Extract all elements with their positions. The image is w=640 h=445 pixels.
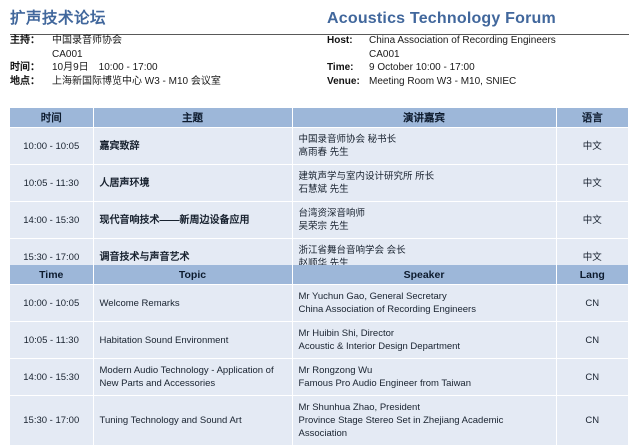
cell-language: 中文 [556,202,628,239]
event-info-english: Host: China Association of Recording Eng… [327,34,630,88]
info-label-venue-zh: 地点： [10,75,52,89]
speaker-affiliation: 建筑声学与室内设计研究所 所长 [299,170,550,183]
forum-schedule-page: 扩声技术论坛 主持： 中国录音师协会 CA001 时间： 10月9日 10:00… [0,0,640,422]
cell-topic: Habitation Sound Environment [93,322,292,359]
info-value-time-en: 9 October 10:00 - 17:00 [369,61,630,75]
speaker-affiliation: 浙江省舞台音响学会 会长 [299,244,550,257]
speaker-affiliation: Famous Pro Audio Engineer from Taiwan [299,377,550,390]
speaker-affiliation: China Association of Recording Engineers [299,303,550,316]
info-label-venue-en: Venue: [327,75,369,89]
cell-time: 10:05 - 11:30 [10,165,93,202]
speaker-name: Mr Rongzong Wu [299,364,550,377]
cell-time: 14:00 - 15:30 [10,359,93,396]
column-header-topic-en: Topic [93,265,292,285]
cell-time: 10:05 - 11:30 [10,322,93,359]
cell-topic: Welcome Remarks [93,285,292,322]
info-row-host-zh: 主持： 中国录音师协会 [10,34,315,48]
cell-topic: 现代音响技术——新周边设备应用 [93,202,292,239]
table-header-row-zh: 时间 主题 演讲嘉宾 语言 [10,108,628,128]
table-header-row-en: Time Topic Speaker Lang [10,265,628,285]
info-sub-host-code-en: CA001 [327,48,630,62]
event-info-chinese: 主持： 中国录音师协会 CA001 时间： 10月9日 10:00 - 17:0… [10,34,315,88]
speaker-affiliation: Acoustic & Interior Design Department [299,340,550,353]
speaker-affiliation: 中国录音师协会 秘书长 [299,133,550,146]
cell-topic: Modern Audio Technology - Application of… [93,359,292,396]
table-row: 14:00 - 15:30 现代音响技术——新周边设备应用 台湾资深音响师 吴荣… [10,202,628,239]
cell-speaker: Mr Shunhua Zhao, President Province Stag… [292,396,556,445]
schedule-table-english: Time Topic Speaker Lang 10:00 - 10:05 We… [10,265,628,445]
header-column-chinese: 扩声技术论坛 主持： 中国录音师协会 CA001 时间： 10月9日 10:00… [10,0,315,88]
info-label-time-zh: 时间： [10,61,52,75]
cell-topic: Tuning Technology and Sound Art [93,396,292,445]
info-value-venue-zh: 上海新国际博览中心 W3 - M10 会议室 [52,75,315,89]
info-label-host-en: Host: [327,34,369,48]
cell-speaker: 建筑声学与室内设计研究所 所长 石慧斌 先生 [292,165,556,202]
info-row-host-en: Host: China Association of Recording Eng… [327,34,630,48]
cell-language: CN [556,396,628,445]
column-header-lang-zh: 语言 [556,108,628,128]
cell-topic: 嘉宾致辞 [93,128,292,165]
schedule-table-chinese: 时间 主题 演讲嘉宾 语言 10:00 - 10:05 嘉宾致辞 中国录音师协会… [10,108,628,275]
cell-speaker: 中国录音师协会 秘书长 高雨春 先生 [292,128,556,165]
table-row: 14:00 - 15:30 Modern Audio Technology - … [10,359,628,396]
info-row-time-en: Time: 9 October 10:00 - 17:00 [327,61,630,75]
speaker-name: Mr Huibin Shi, Director [299,327,550,340]
column-header-speaker-en: Speaker [292,265,556,285]
cell-language: 中文 [556,165,628,202]
header-column-english: Acoustics Technology Forum Host: China A… [327,0,630,88]
column-header-time-zh: 时间 [10,108,93,128]
cell-topic: 人居声环境 [93,165,292,202]
info-label-host-zh: 主持： [10,34,52,48]
table-row: 10:05 - 11:30 人居声环境 建筑声学与室内设计研究所 所长 石慧斌 … [10,165,628,202]
cell-speaker: Mr Huibin Shi, Director Acoustic & Inter… [292,322,556,359]
table-row: 10:05 - 11:30 Habitation Sound Environme… [10,322,628,359]
info-value-time-zh: 10月9日 10:00 - 17:00 [52,61,315,75]
speaker-affiliation: 台湾资深音响师 [299,207,550,220]
speaker-affiliation: Province Stage Stereo Set in Zhejiang Ac… [299,414,550,440]
speaker-name: Mr Shunhua Zhao, President [299,401,550,414]
column-header-topic-zh: 主题 [93,108,292,128]
speaker-name: 石慧斌 先生 [299,183,550,196]
table-row: 10:00 - 10:05 嘉宾致辞 中国录音师协会 秘书长 高雨春 先生 中文 [10,128,628,165]
page-title-english: Acoustics Technology Forum [327,9,630,28]
cell-language: CN [556,285,628,322]
info-row-time-zh: 时间： 10月9日 10:00 - 17:00 [10,61,315,75]
column-header-time-en: Time [10,265,93,285]
cell-time: 10:00 - 10:05 [10,128,93,165]
table-row: 10:00 - 10:05 Welcome Remarks Mr Yuchun … [10,285,628,322]
column-header-speaker-zh: 演讲嘉宾 [292,108,556,128]
cell-speaker: Mr Rongzong Wu Famous Pro Audio Engineer… [292,359,556,396]
info-sub-host-code-zh: CA001 [10,48,315,62]
cell-time: 14:00 - 15:30 [10,202,93,239]
column-header-lang-en: Lang [556,265,628,285]
page-title-chinese: 扩声技术论坛 [10,9,315,28]
info-label-time-en: Time: [327,61,369,75]
speaker-name: 高雨春 先生 [299,146,550,159]
info-value-host-en: China Association of Recording Engineers [369,34,630,48]
info-value-host-zh: 中国录音师协会 [52,34,315,48]
page-header: 扩声技术论坛 主持： 中国录音师协会 CA001 时间： 10月9日 10:00… [0,0,640,104]
cell-language: CN [556,322,628,359]
cell-language: 中文 [556,128,628,165]
cell-language: CN [556,359,628,396]
info-row-venue-en: Venue: Meeting Room W3 - M10, SNIEC [327,75,630,89]
cell-time: 15:30 - 17:00 [10,396,93,445]
speaker-name: 吴荣宗 先生 [299,220,550,233]
info-row-venue-zh: 地点： 上海新国际博览中心 W3 - M10 会议室 [10,75,315,89]
info-value-venue-en: Meeting Room W3 - M10, SNIEC [369,75,630,89]
cell-speaker: Mr Yuchun Gao, General Secretary China A… [292,285,556,322]
cell-time: 10:00 - 10:05 [10,285,93,322]
speaker-name: Mr Yuchun Gao, General Secretary [299,290,550,303]
cell-speaker: 台湾资深音响师 吴荣宗 先生 [292,202,556,239]
table-row: 15:30 - 17:00 Tuning Technology and Soun… [10,396,628,445]
